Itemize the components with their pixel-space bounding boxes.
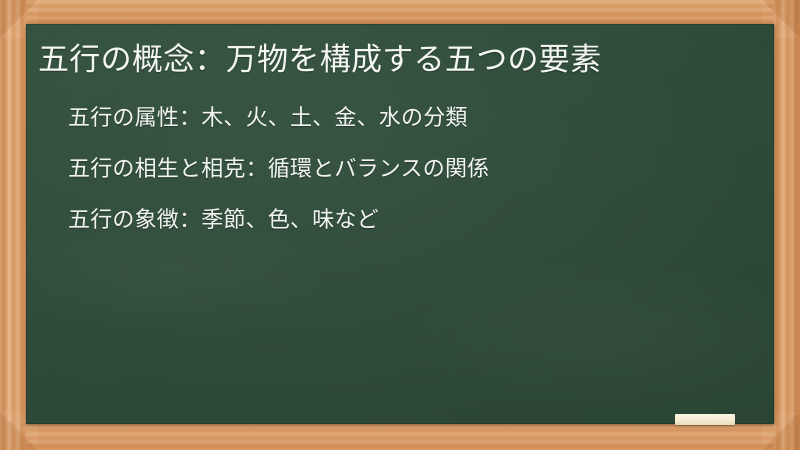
frame-top-rail <box>0 0 800 26</box>
frame-left-rail <box>0 0 26 450</box>
page-title: 五行の概念：万物を構成する五つの要素 <box>38 38 728 82</box>
board-content: 五行の概念：万物を構成する五つの要素 五行の属性：木、火、土、金、水の分類 五行… <box>26 24 774 424</box>
frame-bottom-rail <box>0 422 800 450</box>
list-item: 五行の象徴：季節、色、味など <box>68 206 746 235</box>
frame-right-rail <box>774 0 800 450</box>
chalkboard-slide: 五行の概念：万物を構成する五つの要素 五行の属性：木、火、土、金、水の分類 五行… <box>0 0 800 450</box>
list-item: 五行の属性：木、火、土、金、水の分類 <box>68 104 746 133</box>
chalkboard-surface: 五行の概念：万物を構成する五つの要素 五行の属性：木、火、土、金、水の分類 五行… <box>26 24 774 424</box>
chalk-stick <box>675 414 735 425</box>
bullet-list: 五行の属性：木、火、土、金、水の分類 五行の相生と相克：循環とバランスの関係 五… <box>38 104 746 235</box>
list-item: 五行の相生と相克：循環とバランスの関係 <box>68 155 746 184</box>
